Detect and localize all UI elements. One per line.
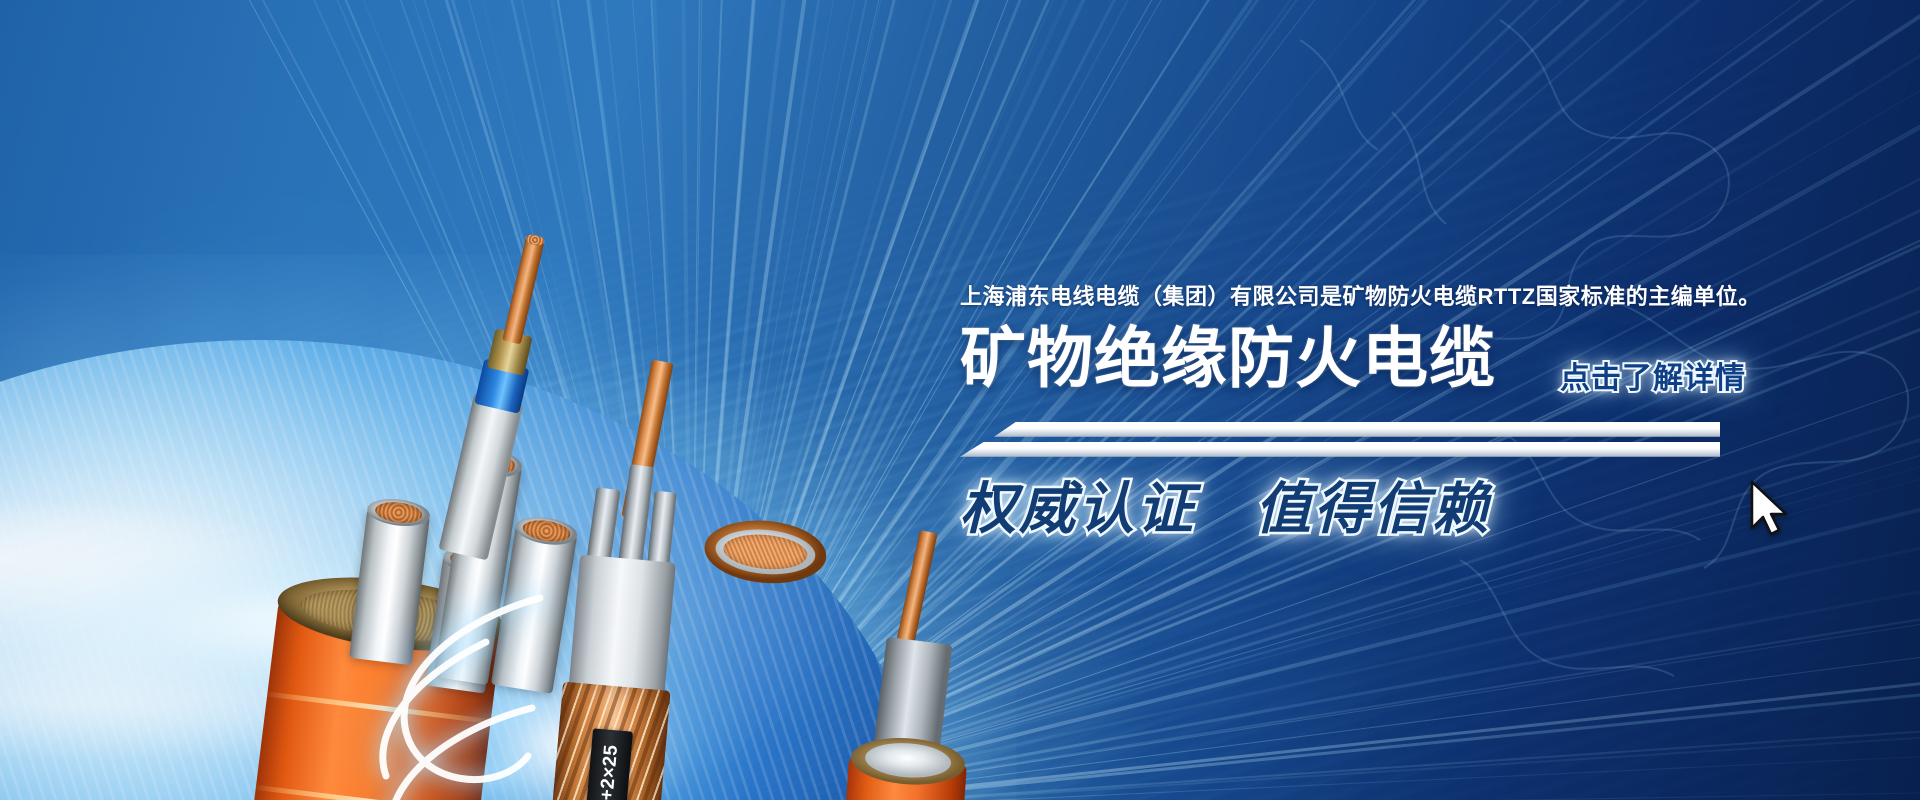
divider-bar-bottom (960, 442, 1720, 457)
banner-tagline: 上海浦东电线电缆（集团）有限公司是矿物防火电缆RTTZ国家标准的主编单位。 (960, 282, 1900, 312)
cta-link[interactable]: 点击了解详情 (1560, 364, 1746, 394)
cable-corrugated-copper: YTTW 0.6/1KV 3×50+2×25 (534, 464, 689, 800)
globe-cloud-texture (0, 340, 940, 800)
cable-solid-copper (664, 546, 826, 800)
cable-product-group: YTTW 0.6/1KV 3×50+2×25 (150, 200, 970, 800)
glowing-ribbon-swirl (210, 580, 570, 800)
earth-globe (0, 340, 940, 800)
cable-core (491, 526, 577, 694)
cable-orange-large (230, 600, 502, 800)
cable-product-label-text: YTTW 0.6/1KV 3×50+2×25 (582, 744, 622, 800)
hero-banner: YTTW 0.6/1KV 3×50+2×25 上海浦东电线电缆（集团）有限公司是… (0, 0, 1920, 800)
headline-row: 矿物绝缘防火电缆 点击了解详情 (960, 326, 1900, 410)
cable-orange-small (831, 756, 967, 800)
banner-copy: 上海浦东电线电缆（集团）有限公司是矿物防火电缆RTTZ国家标准的主编单位。 矿物… (960, 282, 1900, 538)
divider-bars (960, 422, 1720, 464)
cable-core (433, 459, 522, 685)
cable-brass-face (274, 566, 508, 661)
cable-product-label: YTTW 0.6/1KV 3×50+2×25 (570, 728, 633, 800)
banner-headline: 矿物绝缘防火电缆 (960, 326, 1496, 392)
cable-core (349, 509, 430, 666)
cable-blue-banded (439, 306, 544, 561)
banner-slogan: 权威认证 值得信赖 (960, 480, 1900, 539)
divider-bar-top (994, 422, 1720, 437)
cable-core (425, 556, 503, 693)
backlight-hotspot (300, 530, 820, 800)
cable-mesh-face (298, 581, 485, 649)
globe-horizon-glow (0, 500, 890, 740)
